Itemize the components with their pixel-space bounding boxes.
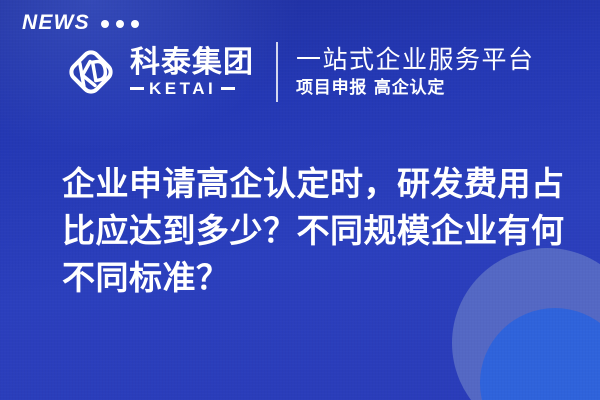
brand-name-en: KETAI xyxy=(149,80,216,97)
vertical-divider xyxy=(276,42,278,102)
news-eyebrow: NEWS xyxy=(22,12,139,33)
headline-line: 比应达到多少？不同规模企业有何 xyxy=(62,207,550,254)
brand-wordmark: 科泰集团 KETAI xyxy=(130,47,254,98)
decorative-circle-bright xyxy=(480,308,600,400)
news-label: NEWS xyxy=(22,12,90,33)
news-dots xyxy=(101,20,139,28)
ketai-diamond-kd-logo-icon xyxy=(62,43,120,101)
brand-name-cn: 科泰集团 xyxy=(130,47,254,79)
news-banner: NEWS 科泰集团 xyxy=(0,0,600,400)
tagline-block: 一站式企业服务平台 项目申报 高企认定 xyxy=(296,46,535,97)
tagline-main: 一站式企业服务平台 xyxy=(296,46,535,74)
wordmark-rule-left xyxy=(130,87,144,90)
news-dot xyxy=(101,20,109,28)
news-dot xyxy=(116,20,124,28)
news-dot xyxy=(131,20,139,28)
tagline-sub: 项目申报 高企认定 xyxy=(296,79,535,98)
brand-name-en-row: KETAI xyxy=(130,80,254,97)
headline-line: 不同标准？ xyxy=(62,254,550,301)
brand-header: 科泰集团 KETAI 一站式企业服务平台 项目申报 高企认定 xyxy=(62,42,535,102)
wordmark-rule-right xyxy=(221,87,235,90)
headline: 企业申请高企认定时，研发费用占 比应达到多少？不同规模企业有何 不同标准？ xyxy=(62,160,550,301)
headline-line: 企业申请高企认定时，研发费用占 xyxy=(62,160,550,207)
brand-lockup: 科泰集团 KETAI xyxy=(62,43,254,101)
